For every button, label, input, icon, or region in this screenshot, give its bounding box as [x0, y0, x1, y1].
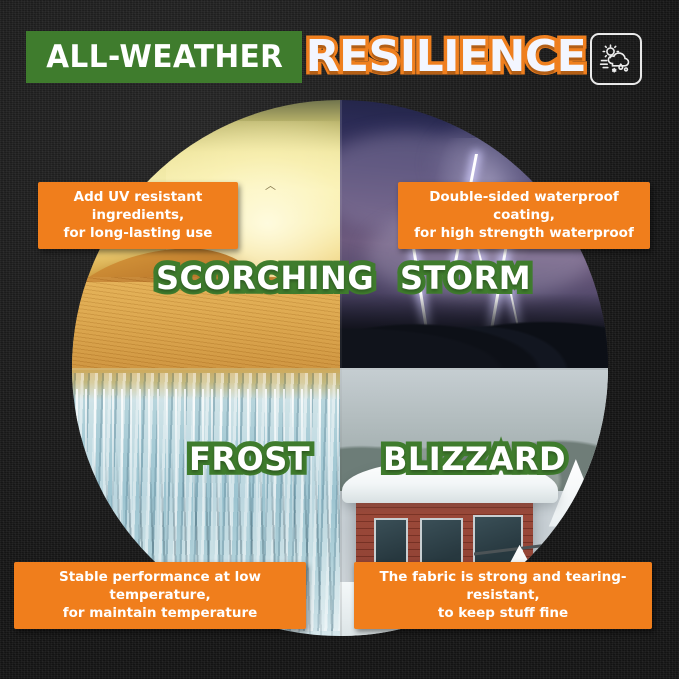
all-weather-resilience-poster: ALL-WEATHER RESILIENCE	[0, 0, 679, 679]
quadrant-label-scorching: SCORCHING	[156, 262, 374, 294]
quadrant-label-blizzard: BLIZZARD	[383, 443, 566, 475]
caption-scorching: Add UV resistant ingredients, for long-l…	[38, 182, 238, 249]
weather-collage-circle: ︿	[72, 100, 608, 636]
header-title-secondary: RESILIENCE	[306, 35, 587, 79]
header-title-secondary-wrap: RESILIENCE	[300, 31, 591, 83]
header-title-primary: ALL-WEATHER	[46, 42, 283, 73]
poster-header: ALL-WEATHER RESILIENCE	[26, 31, 590, 83]
caption-storm: Double-sided waterproof coating, for hig…	[398, 182, 650, 249]
quadrant-label-storm: STORM	[400, 262, 531, 294]
collage-horizontal-seam	[72, 368, 608, 370]
quadrant-label-frost: FROST	[189, 443, 310, 475]
weather-sun-cloud-wind-rain-icon	[590, 33, 642, 85]
caption-blizzard: The fabric is strong and tearing-resista…	[354, 562, 652, 629]
storm-treeline	[340, 293, 608, 368]
header-green-bar: ALL-WEATHER	[26, 31, 302, 83]
caption-frost: Stable performance at low temperature, f…	[14, 562, 306, 629]
bird-icon: ︿	[265, 180, 276, 191]
